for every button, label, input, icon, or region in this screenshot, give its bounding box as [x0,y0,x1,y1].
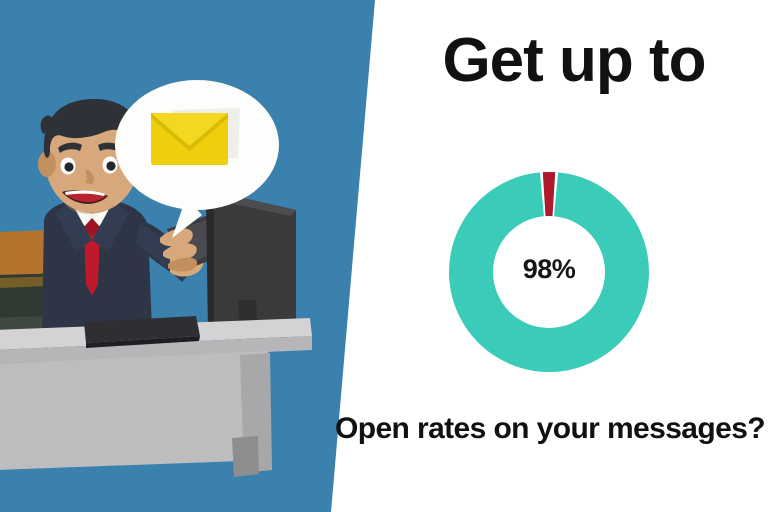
donut-chart: 98% [449,172,649,372]
content-panel: Get up to 98% Open rates on your message… [380,0,768,512]
donut-center-value: 98% [449,254,649,285]
infographic-canvas: Get up to 98% Open rates on your message… [0,0,768,512]
envelope-icon [151,108,240,165]
page-subtitle: Open rates on your messages? [332,412,768,446]
page-title: Get up to [380,28,768,93]
